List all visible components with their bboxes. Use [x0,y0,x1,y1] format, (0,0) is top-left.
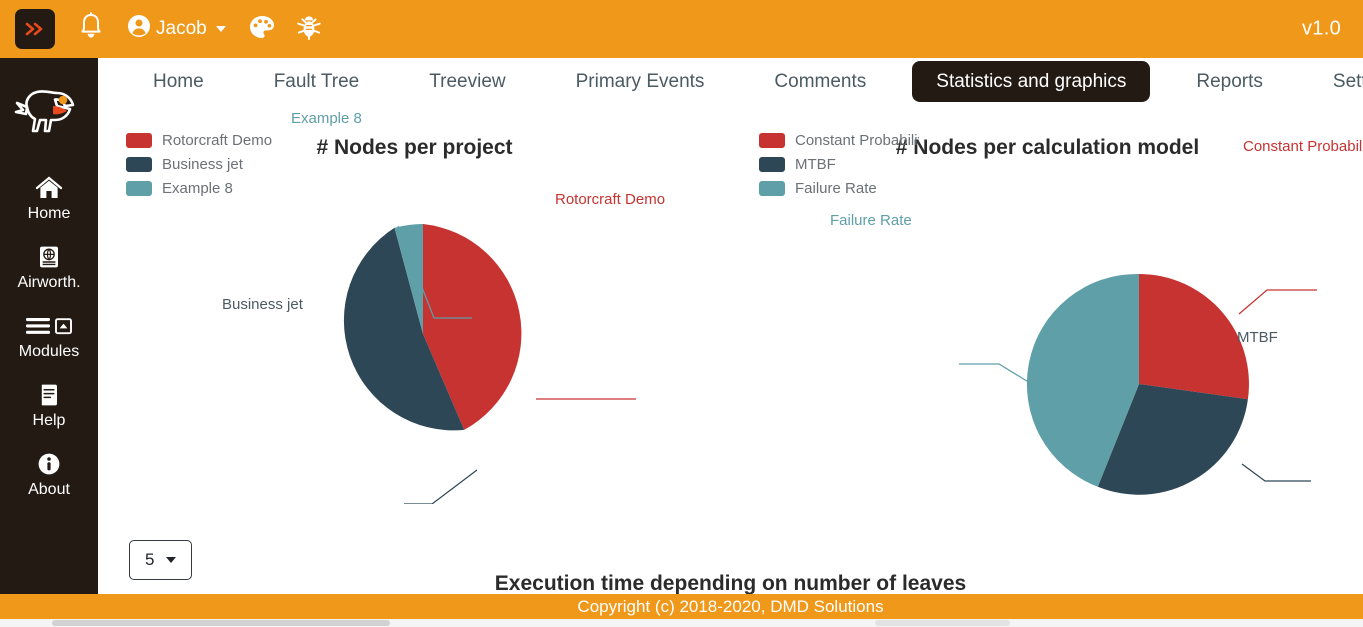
double-chevron-right-icon [24,21,46,37]
pie-label-example-8: Example 8 [291,110,362,127]
pie-label-mtbf: MTBF [1237,329,1278,346]
lower-chart-title: Execution time depending on number of le… [98,572,1363,594]
leader-line-constant-probability [1239,290,1317,314]
legend-label: Rotorcraft Demo [162,132,272,149]
main-content: Home Fault Tree Treeview Primary Events … [98,58,1363,594]
modules-icon [25,312,73,340]
app-version-label: v1.0 [1302,18,1341,41]
tab-bar: Home Fault Tree Treeview Primary Events … [98,58,1363,104]
legend-label: Failure Rate [795,180,877,197]
legend-swatch [759,181,785,196]
chart-legend: Constant Probability MTBF Failure Rate [759,128,919,200]
bird-logo-icon [13,79,85,148]
tab-statistics-and-graphics[interactable]: Statistics and graphics [912,61,1150,102]
footer-left-fill [0,594,98,619]
legend-swatch [126,133,152,148]
notifications-button[interactable] [77,12,105,46]
footer-copyright: Copyright (c) 2018-2020, DMD Solutions [98,597,1363,617]
horizontal-scrollbar-thumb-secondary[interactable] [875,620,1010,626]
horizontal-scrollbar-thumb[interactable] [52,620,390,626]
legend-swatch [126,157,152,172]
user-avatar-icon [127,14,151,44]
tab-primary-events[interactable]: Primary Events [552,61,729,102]
book-globe-icon [36,243,62,271]
tab-home[interactable]: Home [129,61,228,102]
tab-treeview[interactable]: Treeview [405,61,529,102]
leader-line-business-jet [404,470,477,504]
sidebar-item-label: Airworth. [17,275,80,291]
legend-swatch [759,157,785,172]
sidebar-collapse-button[interactable] [15,9,55,49]
theme-button[interactable] [248,15,276,43]
pie-label-rotorcraft-demo: Rotorcraft Demo [555,191,665,208]
sidebar: Home Airworth. [0,58,98,594]
legend-item[interactable]: Business jet [126,152,286,176]
sidebar-item-home[interactable]: Home [0,163,98,232]
user-menu-button[interactable]: Jacob [127,14,226,44]
palette-icon [248,14,276,45]
info-circle-icon [36,450,62,478]
footer: Copyright (c) 2018-2020, DMD Solutions [0,594,1363,619]
caret-down-icon [166,557,176,563]
pie-label-failure-rate: Failure Rate [830,212,912,229]
tab-reports[interactable]: Reports [1172,61,1287,102]
app-logo[interactable] [0,58,98,163]
legend-item[interactable]: Example 8 [126,176,286,200]
charts-row: # Nodes per project Rotorcraft Demo Busi… [98,104,1363,504]
legend-label: Business jet [162,156,243,173]
legend-item[interactable]: Failure Rate [759,176,919,200]
sidebar-item-airworthiness[interactable]: Airworth. [0,232,98,301]
report-bug-button[interactable] [296,15,322,43]
chevron-down-icon [216,26,226,32]
sidebar-item-label: About [28,482,70,498]
legend-item[interactable]: MTBF [759,152,919,176]
user-name-label: Jacob [156,18,207,40]
sidebar-item-modules[interactable]: Modules [0,301,98,370]
application-root: Jacob [0,0,1363,627]
legend-label: Example 8 [162,180,233,197]
legend-label: Constant Probability [795,132,919,149]
sidebar-item-label: Modules [19,344,79,360]
chart-legend: Rotorcraft Demo Business jet Example 8 [126,128,286,200]
page-size-value: 5 [145,550,154,570]
legend-swatch [759,133,785,148]
chart-nodes-per-project: # Nodes per project Rotorcraft Demo Busi… [98,104,731,504]
pie-slice-constant-probability [1139,274,1249,399]
bug-icon [296,14,322,45]
sidebar-item-label: Help [33,413,66,429]
tab-fault-tree[interactable]: Fault Tree [250,61,384,102]
top-bar: Jacob [0,0,1363,58]
legend-item[interactable]: Constant Probability [759,128,919,152]
chart-nodes-per-calculation-model: # Nodes per calculation model Constant P… [731,104,1363,504]
leader-line-mtbf [1242,464,1311,481]
tab-comments[interactable]: Comments [750,61,890,102]
sidebar-item-help[interactable]: Help [0,370,98,439]
legend-item[interactable]: Rotorcraft Demo [126,128,286,152]
book-icon [37,381,61,409]
sidebar-item-label: Home [28,206,71,222]
leader-line-failure-rate [959,364,1035,386]
sidebar-item-about[interactable]: About [0,439,98,508]
tab-settings[interactable]: Settings [1309,61,1363,102]
horizontal-scrollbar[interactable] [0,619,1363,627]
legend-label: MTBF [795,156,836,173]
pie-label-constant-probability: Constant Probability [1243,138,1363,155]
legend-swatch [126,181,152,196]
home-icon [35,174,63,202]
bell-icon [78,12,104,47]
pie-label-business-jet: Business jet [222,296,304,313]
